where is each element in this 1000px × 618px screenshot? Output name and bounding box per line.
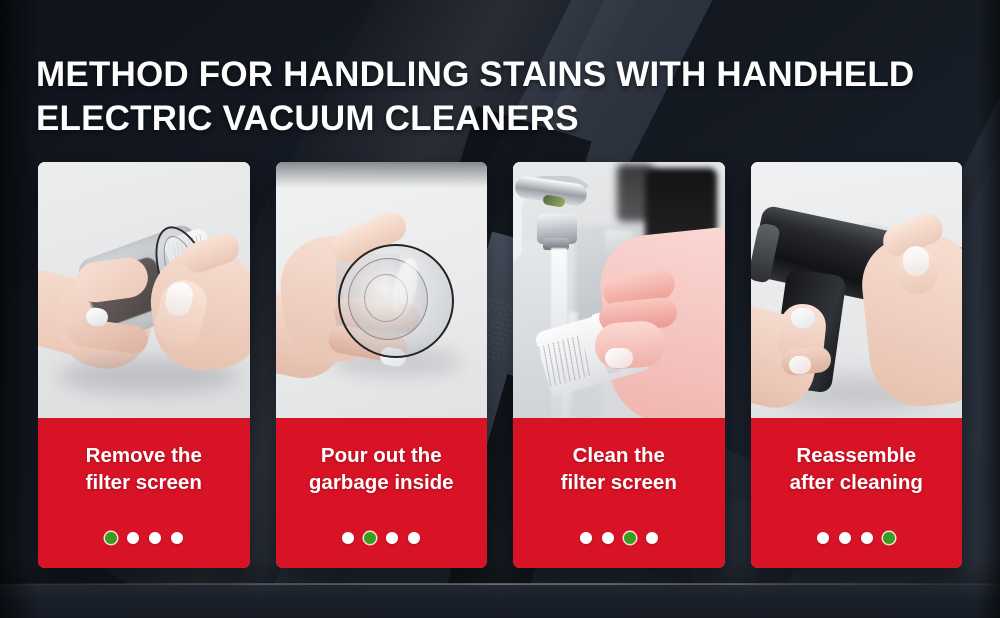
step-caption-3: Clean the filter screen (513, 418, 725, 568)
step-image-4 (751, 162, 963, 418)
page-title: METHOD FOR HANDLING STAINS WITH HANDHELD… (36, 53, 936, 141)
step-caption-2: Pour out the garbage inside (276, 418, 488, 568)
progress-dot-1[interactable] (580, 532, 592, 544)
step-caption-3-line-2: filter screen (561, 471, 677, 494)
step-caption-1-line-1: Remove the (86, 444, 202, 467)
background-floor (0, 584, 1000, 618)
step-progress-dots-4[interactable] (751, 532, 963, 544)
progress-dot-3[interactable] (149, 532, 161, 544)
step-caption-1: Remove the filter screen (38, 418, 250, 568)
background-edge-left (0, 0, 40, 618)
step-caption-4: Reassemble after cleaning (751, 418, 963, 568)
progress-dot-1[interactable] (342, 532, 354, 544)
progress-dot-3[interactable] (624, 532, 636, 544)
step-card-4[interactable]: Reassemble after cleaning (751, 162, 963, 568)
progress-dot-3[interactable] (386, 532, 398, 544)
step-image-2 (276, 162, 488, 418)
step-card-3[interactable]: Clean the filter screen (513, 162, 725, 568)
step-caption-4-line-1: Reassemble (796, 444, 916, 467)
step-image-3 (513, 162, 725, 418)
background-floor-highlight-line (0, 583, 1000, 585)
step-caption-4-line-2: after cleaning (790, 471, 923, 494)
background-edge-right (978, 0, 1000, 618)
progress-dot-4[interactable] (171, 532, 183, 544)
step-caption-1-line-2: filter screen (86, 471, 202, 494)
progress-dot-1[interactable] (105, 532, 117, 544)
page-title-line-1: METHOD FOR HANDLING STAINS WITH HANDHELD (36, 55, 914, 94)
step-card-2[interactable]: Pour out the garbage inside (276, 162, 488, 568)
step-image-1 (38, 162, 250, 418)
page-title-line-2: ELECTRIC VACUUM CLEANERS (36, 97, 936, 141)
progress-dot-4[interactable] (646, 532, 658, 544)
step-card-1[interactable]: Remove the filter screen (38, 162, 250, 568)
step-progress-dots-2[interactable] (276, 532, 488, 544)
step-caption-2-line-2: garbage inside (309, 471, 454, 494)
step-progress-dots-1[interactable] (38, 532, 250, 544)
step-card-list: Remove the filter screen (38, 162, 962, 568)
progress-dot-2[interactable] (127, 532, 139, 544)
step-caption-2-line-1: Pour out the (321, 444, 442, 467)
progress-dot-1[interactable] (817, 532, 829, 544)
progress-dot-4[interactable] (408, 532, 420, 544)
step-caption-3-line-1: Clean the (573, 444, 665, 467)
step-progress-dots-3[interactable] (513, 532, 725, 544)
progress-dot-3[interactable] (861, 532, 873, 544)
progress-dot-4[interactable] (883, 532, 895, 544)
progress-dot-2[interactable] (839, 532, 851, 544)
progress-dot-2[interactable] (602, 532, 614, 544)
infographic-banner: METHOD FOR HANDLING STAINS WITH HANDHELD… (0, 0, 1000, 618)
progress-dot-2[interactable] (364, 532, 376, 544)
